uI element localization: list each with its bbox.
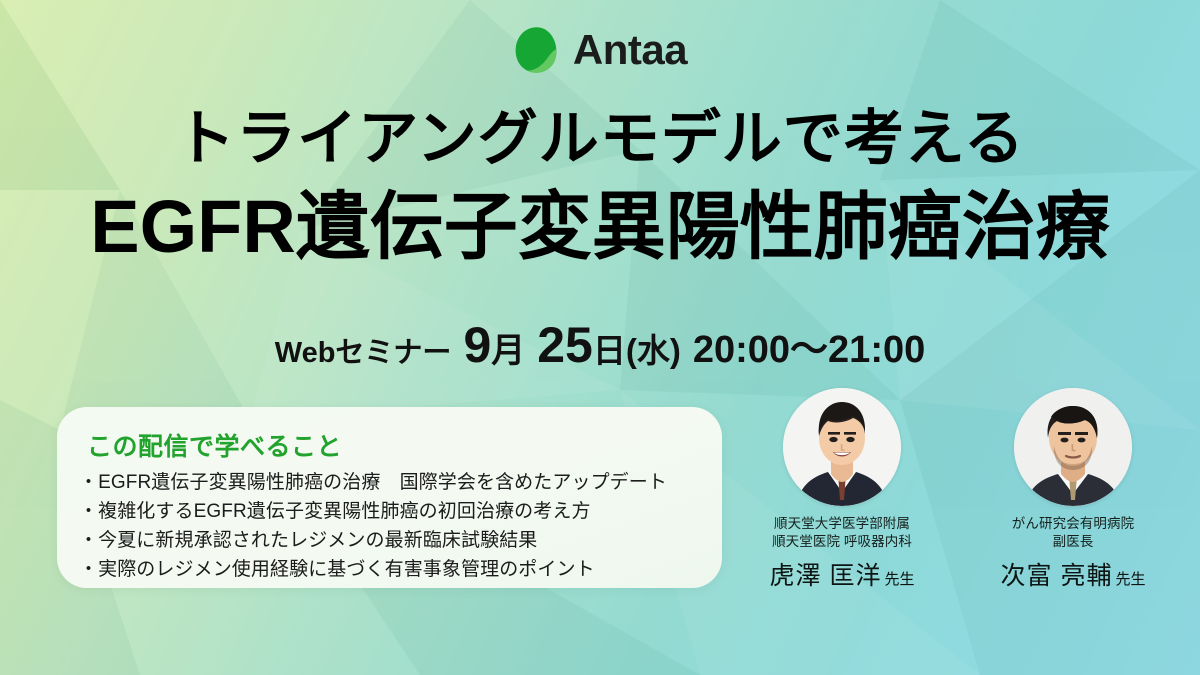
- brand-logo: Antaa: [0, 26, 1200, 74]
- speaker-2-affiliation-line1: がん研究会有明病院: [986, 515, 1161, 533]
- speaker-2-affiliation-line2: 副医長: [986, 533, 1161, 551]
- list-item: ・EGFR遺伝子変異陽性肺癌の治療 国際学会を含めたアップデート: [79, 469, 708, 498]
- brand-wordmark: Antaa: [573, 29, 687, 71]
- list-item: ・複雑化するEGFR遺伝子変異陽性肺癌の初回治療の考え方: [79, 498, 708, 527]
- speaker-photo-1-avatar: [783, 388, 901, 506]
- format-label: Webセミナー: [275, 329, 452, 371]
- seminar-title-line1: トライアングルモデルで考える: [0, 107, 1200, 170]
- learn-points-card: この配信で学べること ・EGFR遺伝子変異陽性肺癌の治療 国際学会を含めたアップ…: [57, 407, 722, 588]
- speaker-2-affiliation: がん研究会有明病院 副医長: [986, 515, 1161, 551]
- speaker-1-affiliation: 順天堂大学医学部附属 順天堂医院 呼吸器内科: [755, 515, 930, 551]
- list-item: ・実際のレジメン使用経験に基づく有害事象管理のポイント: [79, 556, 708, 585]
- speaker-1-name-row: 虎澤 匡洋先生: [755, 556, 930, 592]
- speaker-photo-2: [1014, 388, 1132, 506]
- schedule-month: 9: [463, 320, 491, 370]
- schedule-time: 20:00〜21:00: [693, 318, 925, 373]
- seminar-schedule: Webセミナー 9 月 25 日 (水) 20:00〜21:00: [0, 318, 1200, 373]
- schedule-day: 25: [537, 320, 593, 370]
- learn-points-heading: この配信で学べること: [87, 427, 342, 463]
- list-item: ・今夏に新規承認されたレジメンの最新臨床試験結果: [79, 527, 708, 556]
- speakers-section: 順天堂大学医学部附属 順天堂医院 呼吸器内科 虎澤 匡洋先生: [735, 388, 1180, 618]
- speaker-2-name-row: 次富 亮輔先生: [986, 556, 1161, 592]
- speaker-2-name: 次富 亮輔: [1001, 562, 1113, 590]
- seminar-banner: Antaa トライアングルモデルで考える EGFR遺伝子変異陽性肺癌治療 Web…: [0, 0, 1200, 675]
- antaa-leaf-icon: [513, 26, 559, 74]
- seminar-title-line2: EGFR遺伝子変異陽性肺癌治療: [0, 188, 1200, 266]
- speaker-card-1: 順天堂大学医学部附属 順天堂医院 呼吸器内科 虎澤 匡洋先生: [755, 388, 930, 618]
- schedule-month-unit: 月: [491, 323, 525, 372]
- speaker-photo-1: [783, 388, 901, 506]
- schedule-weekday: (水): [626, 324, 681, 372]
- speaker-1-affiliation-line1: 順天堂大学医学部附属: [755, 515, 930, 533]
- speaker-1-honorific: 先生: [884, 571, 914, 588]
- schedule-day-unit: 日: [593, 324, 626, 372]
- speaker-photo-2-avatar: [1014, 388, 1132, 506]
- speaker-2-honorific: 先生: [1115, 571, 1145, 588]
- speaker-1-name: 虎澤 匡洋: [770, 562, 882, 590]
- learn-points-list: ・EGFR遺伝子変異陽性肺癌の治療 国際学会を含めたアップデート ・複雑化するE…: [79, 469, 708, 585]
- speaker-card-2: がん研究会有明病院 副医長 次富 亮輔先生: [986, 388, 1161, 618]
- speaker-1-affiliation-line2: 順天堂医院 呼吸器内科: [755, 533, 930, 551]
